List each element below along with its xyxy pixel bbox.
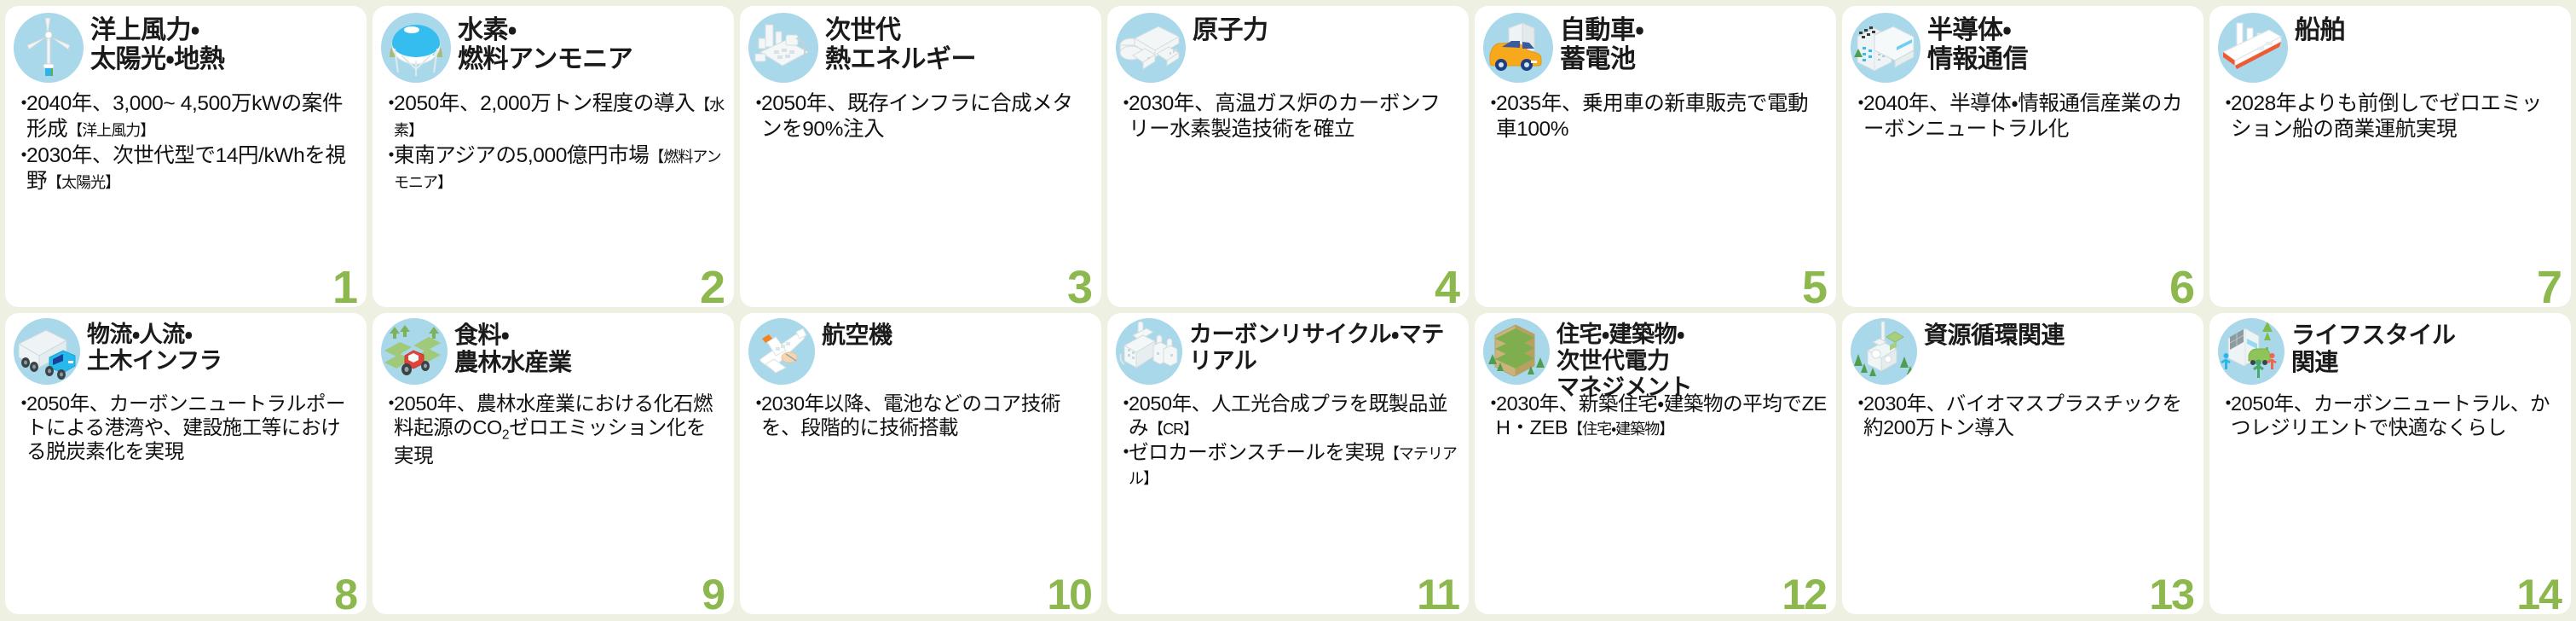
- bullet-text: 2035年、乗用車の新車販売で電動車100%: [1496, 91, 1828, 142]
- card-header: カーボンリサイクル・マテリアル: [1116, 318, 1460, 386]
- card-number: 7: [2537, 264, 2561, 307]
- bullet-item: ・2040年、半導体・情報通信産業のカーボンニュートラル化: [1851, 91, 2195, 142]
- bullet-dot-icon: ・: [381, 91, 394, 142]
- card-header: 食料・農林水産業: [381, 318, 725, 386]
- card-title: カーボンリサイクル・マテリアル: [1189, 318, 1460, 374]
- card-bullet-list: ・2030年、新築住宅・建築物の平均でZEH・ZEB【住宅・建築物】: [1483, 392, 1828, 609]
- card-number: 13: [2149, 573, 2193, 614]
- bullet-text: 2030年、新築住宅・建築物の平均でZEH・ZEB【住宅・建築物】: [1496, 392, 1828, 439]
- card-header: 資源循環関連: [1851, 318, 2195, 386]
- bullet-text: 2040年、半導体・情報通信産業のカーボンニュートラル化: [1863, 91, 2195, 142]
- card-number: 5: [1802, 264, 1826, 307]
- bullet-item: ・2050年、農林水産業における化石燃料起源のCO2ゼロエミッション化を実現: [381, 392, 725, 468]
- bullet-dot-icon: ・: [1116, 392, 1129, 439]
- strategy-card-3[interactable]: 次世代熱エネルギー・2050年、既存インフラに合成メタンを90%注入3: [740, 6, 1101, 307]
- strategy-card-8[interactable]: 物流・人流・土木インフラ・2050年、カーボンニュートラルポートによる港湾や、建…: [5, 313, 367, 614]
- card-number: 1: [332, 264, 356, 307]
- card-row-2: 物流・人流・土木インフラ・2050年、カーボンニュートラルポートによる港湾や、建…: [5, 313, 2571, 614]
- bullet-item: ・2050年、既存インフラに合成メタンを90%注入: [748, 91, 1093, 142]
- bullet-text: 2030年、次世代型で14円/kWhを視野【太陽光】: [26, 143, 358, 194]
- strategy-card-13[interactable]: 資源循環関連・2030年、バイオマスプラスチックを約200万トン導入13: [1842, 313, 2203, 614]
- svg-text:H: H: [425, 46, 432, 56]
- card-number: 12: [1782, 573, 1826, 614]
- bullet-text: 2050年、カーボンニュートラル、かつレジリエントで快適なくらし: [2231, 392, 2562, 439]
- card-header: H 2水素・燃料アンモニア: [381, 13, 725, 86]
- bullet-dot-icon: ・: [1851, 91, 1863, 142]
- bullet-item: ・2040年、3,000~ 4,500万kWの案件形成【洋上風力】: [14, 91, 358, 142]
- card-title: ライフスタイル関連: [2291, 318, 2456, 376]
- bullet-item: ・2030年以降、電池などのコア技術を、段階的に技術搭載: [748, 392, 1093, 439]
- card-bullet-list: ・2030年以降、電池などのコア技術を、段階的に技術搭載: [748, 392, 1093, 609]
- bullet-dot-icon: ・: [14, 91, 26, 142]
- resource-recycle-icon: [1851, 318, 1917, 385]
- card-number: 6: [2169, 264, 2193, 307]
- bullet-text: ゼロカーボンスチールを実現【マテリアル】: [1129, 440, 1460, 488]
- card-number: 2: [700, 264, 724, 307]
- card-number: 14: [2516, 573, 2561, 614]
- card-header: 洋上風力・太陽光・地熱: [14, 13, 358, 86]
- card-header: 船舶: [2218, 13, 2562, 86]
- card-title: 住宅・建築物・次世代電力マネジメント: [1557, 318, 1692, 400]
- card-bullet-list: ・2050年、人工光合成プラを既製品並み【CR】・ゼロカーボンスチールを実現【マ…: [1116, 392, 1460, 609]
- card-bullet-list: ・2030年、高温ガス炉のカーボンフリー水素製造技術を確立: [1116, 91, 1460, 302]
- bullet-dot-icon: ・: [14, 143, 26, 194]
- bullet-text: 2050年、既存インフラに合成メタンを90%注入: [761, 91, 1093, 142]
- strategy-card-2[interactable]: H 2水素・燃料アンモニア・2050年、2,000万トン程度の導入【水素】・東南…: [373, 6, 734, 307]
- chemical-plant-icon: [1116, 318, 1182, 385]
- card-bullet-list: ・2028年よりも前倒しでゼロエミッション船の商業運航実現: [2218, 91, 2562, 302]
- bullet-text: 2050年、農林水産業における化石燃料起源のCO2ゼロエミッション化を実現: [394, 392, 725, 468]
- bullet-dot-icon: ・: [748, 392, 761, 439]
- card-bullet-list: ・2050年、既存インフラに合成メタンを90%注入: [748, 91, 1093, 302]
- bullet-text: 2050年、2,000万トン程度の導入【水素】: [394, 91, 725, 142]
- strategy-card-6[interactable]: 半導体・情報通信・2040年、半導体・情報通信産業のカーボンニュートラル化6: [1842, 6, 2203, 307]
- bullet-item: ・東南アジアの5,000億円市場【燃料アンモニア】: [381, 143, 725, 194]
- card-title: 船舶: [2295, 13, 2345, 45]
- card-header: 原子力: [1116, 13, 1460, 86]
- ship-icon: [2218, 13, 2288, 83]
- building-icon: [1483, 318, 1550, 385]
- card-title: 航空機: [822, 318, 892, 349]
- card-title: 食料・農林水産業: [454, 318, 572, 376]
- bullet-dot-icon: ・: [1483, 91, 1496, 142]
- card-header: 半導体・情報通信: [1851, 13, 2195, 86]
- bullet-dot-icon: ・: [1483, 392, 1496, 439]
- card-title: 次世代熱エネルギー: [825, 13, 976, 74]
- bullet-dot-icon: ・: [2218, 392, 2231, 439]
- card-bullet-list: ・2040年、半導体・情報通信産業のカーボンニュートラル化: [1851, 91, 2195, 302]
- card-number: 8: [334, 573, 356, 614]
- bullet-dot-icon: ・: [1116, 91, 1129, 142]
- wind-turbine-icon: [14, 13, 84, 83]
- card-title: 水素・燃料アンモニア: [458, 13, 632, 74]
- card-number: 4: [1435, 264, 1458, 307]
- hydrogen-tank-icon: H 2: [381, 13, 451, 83]
- bullet-item: ・ゼロカーボンスチールを実現【マテリアル】: [1116, 440, 1460, 488]
- card-title: 物流・人流・土木インフラ: [87, 318, 222, 374]
- thermal-plant-icon: [748, 13, 818, 83]
- truck-icon: [14, 318, 80, 385]
- card-header: 物流・人流・土木インフラ: [14, 318, 358, 386]
- card-bullet-list: ・2050年、カーボンニュートラル、かつレジリエントで快適なくらし: [2218, 392, 2562, 609]
- car-battery-icon: [1483, 13, 1553, 83]
- strategy-card-4[interactable]: 原子力・2030年、高温ガス炉のカーボンフリー水素製造技術を確立4: [1107, 6, 1469, 307]
- bullet-item: ・2030年、高温ガス炉のカーボンフリー水素製造技術を確立: [1116, 91, 1460, 142]
- card-bullet-list: ・2040年、3,000~ 4,500万kWの案件形成【洋上風力】・2030年、…: [14, 91, 358, 302]
- card-title: 資源循環関連: [1924, 318, 2065, 349]
- bullet-dot-icon: ・: [381, 392, 394, 468]
- card-bullet-list: ・2050年、農林水産業における化石燃料起源のCO2ゼロエミッション化を実現: [381, 392, 725, 609]
- bullet-dot-icon: ・: [381, 143, 394, 194]
- card-row-1: 洋上風力・太陽光・地熱・2040年、3,000~ 4,500万kWの案件形成【洋…: [5, 6, 2571, 307]
- bullet-item: ・2035年、乗用車の新車販売で電動車100%: [1483, 91, 1828, 142]
- card-header: 自動車・蓄電池: [1483, 13, 1828, 86]
- bullet-dot-icon: ・: [1851, 392, 1863, 439]
- strategy-card-12[interactable]: 住宅・建築物・次世代電力マネジメント・2030年、新築住宅・建築物の平均でZEH…: [1475, 313, 1836, 614]
- bullet-item: ・2050年、カーボンニュートラルポートによる港湾や、建設施工等における脱炭素化…: [14, 392, 358, 464]
- card-header: 航空機: [748, 318, 1093, 386]
- agriculture-tractor-icon: [381, 318, 448, 385]
- bullet-dot-icon: ・: [2218, 91, 2231, 142]
- airplane-icon: [748, 318, 815, 385]
- strategy-card-14[interactable]: ライフスタイル関連・2050年、カーボンニュートラル、かつレジリエントで快適なく…: [2209, 313, 2571, 614]
- card-header: ライフスタイル関連: [2218, 318, 2562, 386]
- bullet-dot-icon: ・: [748, 91, 761, 142]
- bullet-item: ・2050年、カーボンニュートラル、かつレジリエントで快適なくらし: [2218, 392, 2562, 439]
- bullet-item: ・2030年、バイオマスプラスチックを約200万トン導入: [1851, 392, 2195, 439]
- strategy-card-5[interactable]: 自動車・蓄電池・2035年、乗用車の新車販売で電動車100%5: [1475, 6, 1836, 307]
- bullet-text: 2030年以降、電池などのコア技術を、段階的に技術搭載: [761, 392, 1093, 439]
- bullet-text: 2050年、カーボンニュートラルポートによる港湾や、建設施工等における脱炭素化を…: [26, 392, 358, 464]
- card-bullet-list: ・2050年、カーボンニュートラルポートによる港湾や、建設施工等における脱炭素化…: [14, 392, 358, 609]
- svg-text:2: 2: [432, 51, 436, 57]
- card-title: 洋上風力・太陽光・地熱: [90, 13, 224, 74]
- card-title: 原子力: [1193, 13, 1268, 45]
- bullet-text: 東南アジアの5,000億円市場【燃料アンモニア】: [394, 143, 725, 194]
- green-growth-strategy-board: 洋上風力・太陽光・地熱・2040年、3,000~ 4,500万kWの案件形成【洋…: [0, 0, 2576, 621]
- bullet-text: 2050年、人工光合成プラを既製品並み【CR】: [1129, 392, 1460, 439]
- card-number: 10: [1047, 573, 1091, 614]
- card-header: 住宅・建築物・次世代電力マネジメント: [1483, 318, 1828, 386]
- card-bullet-list: ・2030年、バイオマスプラスチックを約200万トン導入: [1851, 392, 2195, 609]
- bullet-item: ・2030年、次世代型で14円/kWhを視野【太陽光】: [14, 143, 358, 194]
- card-bullet-list: ・2035年、乗用車の新車販売で電動車100%: [1483, 91, 1828, 302]
- bullet-text: 2028年よりも前倒しでゼロエミッション船の商業運航実現: [2231, 91, 2562, 142]
- bullet-item: ・2050年、2,000万トン程度の導入【水素】: [381, 91, 725, 142]
- bullet-item: ・2050年、人工光合成プラを既製品並み【CR】: [1116, 392, 1460, 439]
- strategy-card-11[interactable]: カーボンリサイクル・マテリアル・2050年、人工光合成プラを既製品並み【CR】・…: [1107, 313, 1469, 614]
- semiconductor-datacenter-icon: [1851, 13, 1920, 83]
- nuclear-plant-icon: [1116, 13, 1186, 83]
- card-number: 3: [1067, 264, 1091, 307]
- card-number: 11: [1417, 573, 1458, 614]
- bullet-item: ・2028年よりも前倒しでゼロエミッション船の商業運航実現: [2218, 91, 2562, 142]
- bullet-text: 2040年、3,000~ 4,500万kWの案件形成【洋上風力】: [26, 91, 358, 142]
- bullet-dot-icon: ・: [14, 392, 26, 464]
- card-number: 9: [702, 573, 724, 614]
- bullet-text: 2030年、バイオマスプラスチックを約200万トン導入: [1863, 392, 2195, 439]
- strategy-card-10[interactable]: 航空機・2030年以降、電池などのコア技術を、段階的に技術搭載10: [740, 313, 1101, 614]
- card-header: 次世代熱エネルギー: [748, 13, 1093, 86]
- strategy-card-1[interactable]: 洋上風力・太陽光・地熱・2040年、3,000~ 4,500万kWの案件形成【洋…: [5, 6, 367, 307]
- card-title: 自動車・蓄電池: [1560, 13, 1643, 74]
- strategy-card-7[interactable]: 船舶・2028年よりも前倒しでゼロエミッション船の商業運航実現7: [2209, 6, 2571, 307]
- bullet-item: ・2030年、新築住宅・建築物の平均でZEH・ZEB【住宅・建築物】: [1483, 392, 1828, 439]
- card-bullet-list: ・2050年、2,000万トン程度の導入【水素】・東南アジアの5,000億円市場…: [381, 91, 725, 302]
- bullet-dot-icon: ・: [1116, 440, 1129, 488]
- strategy-card-9[interactable]: 食料・農林水産業・2050年、農林水産業における化石燃料起源のCO2ゼロエミッシ…: [373, 313, 734, 614]
- bullet-text: 2030年、高温ガス炉のカーボンフリー水素製造技術を確立: [1129, 91, 1460, 142]
- card-title: 半導体・情報通信: [1927, 13, 2028, 74]
- lifestyle-house-icon: [2218, 318, 2284, 385]
